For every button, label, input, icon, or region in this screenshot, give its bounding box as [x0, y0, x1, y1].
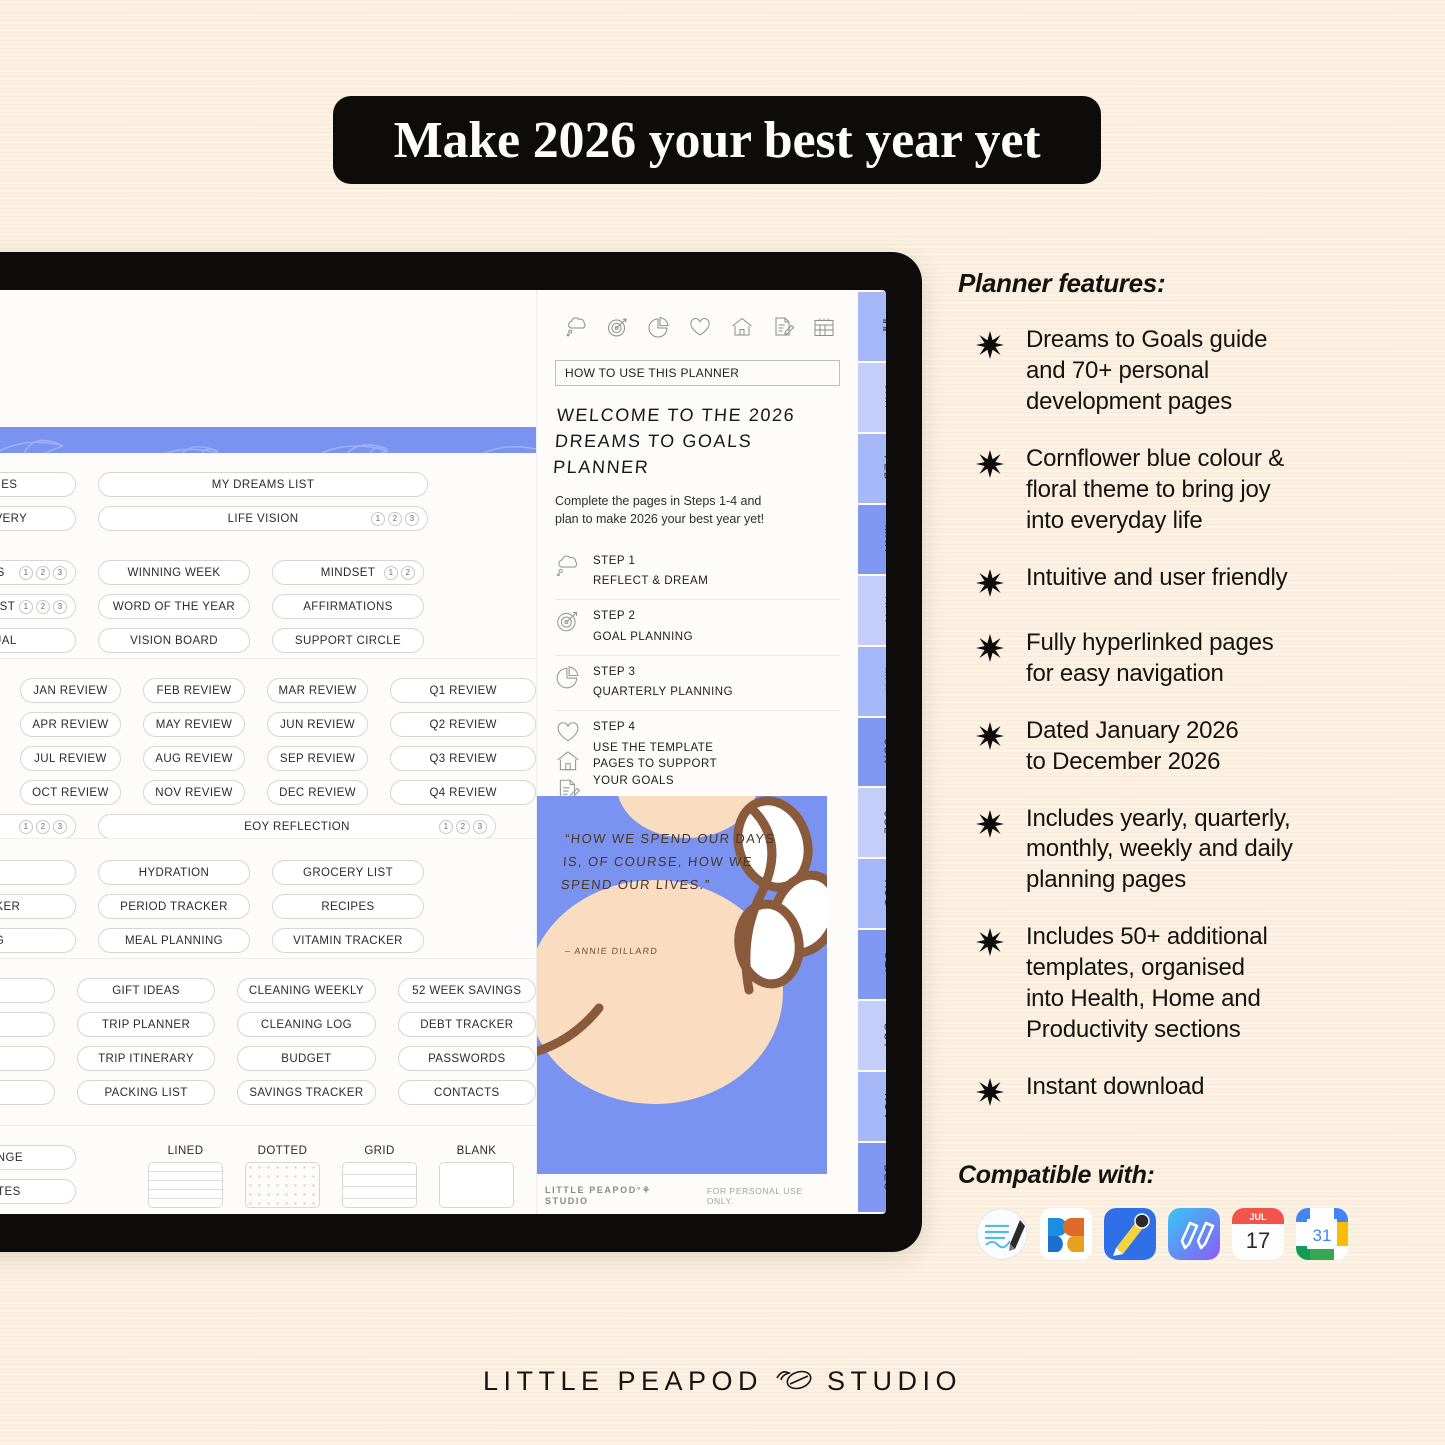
how-to-header-text: HOW TO USE THIS PLANNER: [565, 366, 739, 380]
month-tab-label: FEB: [882, 456, 886, 481]
feature-item-8: Instant download: [958, 1072, 1428, 1111]
pie-chart-icon: [555, 664, 581, 694]
index-link-mar-review[interactable]: MAR REVIEW: [267, 678, 369, 703]
month-tab-jul[interactable]: JUL: [858, 788, 886, 857]
index-link-blank[interactable]: [0, 1046, 55, 1071]
month-tab-dec[interactable]: DEC: [858, 1143, 886, 1212]
index-link-label: FITNESS LOG: [0, 935, 4, 947]
steps-list: STEP 1REFLECT & DREAMSTEP 2GOAL PLANNING…: [555, 545, 840, 816]
index-link-sep-review[interactable]: SEP REVIEW: [267, 746, 369, 771]
index-link-savings-tracker[interactable]: SAVINGS TRACKER: [237, 1080, 375, 1105]
month-tab-apr[interactable]: APR: [858, 576, 886, 645]
step-subtitle: REFLECT & DREAM: [593, 573, 708, 590]
month-tab-label: JUL: [882, 811, 886, 834]
section-divider: [0, 1125, 536, 1126]
page-number-badges: 123: [371, 512, 419, 526]
feature-item-text: Dreams to Goals guide and 70+ personal d…: [1026, 325, 1267, 418]
index-link-label: SAVINGS TRACKER: [249, 1087, 363, 1099]
index-link-label: SEP REVIEW: [280, 753, 355, 765]
index-link-label: MAR REVIEW: [279, 685, 357, 697]
index-link-label: EOY REFLECTION: [244, 821, 350, 833]
index-link-label: FEB REVIEW: [157, 685, 232, 697]
page-number-badge[interactable]: 2: [36, 600, 50, 614]
home-icon: [730, 316, 754, 338]
index-link-label: DREAMS DISCOVERY: [0, 513, 27, 525]
index-link-morning-ritual[interactable]: MORNING RITUAL: [0, 628, 76, 653]
svg-text:17: 17: [1246, 1228, 1270, 1253]
index-link-challenges[interactable]: CHALLENGES123: [0, 560, 76, 585]
index-link-cleaning-weekly[interactable]: CLEANING WEEKLY: [237, 978, 375, 1003]
index-link-label: SUPPORT CIRCLE: [295, 635, 401, 647]
feature-item-1: Dreams to Goals guide and 70+ personal d…: [958, 325, 1428, 418]
month-tab-aug[interactable]: AUG: [858, 859, 886, 928]
quote-illustration-card: “HOW WE SPEND OUR DAYS IS, OF COURSE, HO…: [537, 796, 827, 1174]
heart-icon: [555, 719, 581, 807]
index-link-label: Q4 REVIEW: [429, 787, 497, 799]
index-link-ows[interactable]: OWS: [0, 978, 55, 1003]
index-link-label: CLEANING WEEKLY: [249, 985, 364, 997]
index-link-s[interactable]: S: [0, 1080, 55, 1105]
month-tab-label: ‖‖: [880, 319, 886, 335]
planner-footer-note: FOR PERSONAL USE ONLY.: [707, 1186, 827, 1206]
page-number-badge[interactable]: 1: [439, 820, 453, 834]
index-link-label: HYDRATION: [139, 867, 209, 879]
index-link-q1-review[interactable]: Q1 REVIEW: [390, 678, 536, 703]
page-number-badge[interactable]: 1: [371, 512, 385, 526]
paper-type-label: BLANK: [439, 1145, 514, 1157]
step-title: STEP 4: [593, 719, 717, 737]
target-icon: [606, 316, 630, 338]
index-row: SPACKING LISTSAVINGS TRACKERCONTACTS: [0, 1080, 536, 1105]
index-link-aug-review[interactable]: AUG REVIEW: [143, 746, 245, 771]
index-link-grocery-list[interactable]: GROCERY LIST: [272, 860, 424, 885]
step-title: STEP 2: [593, 608, 693, 626]
step-subtitle: GOAL PLANNING: [593, 629, 693, 646]
feature-item-4: Fully hyperlinked pages for easy navigat…: [958, 628, 1428, 690]
feature-item-text: Fully hyperlinked pages for easy navigat…: [1026, 628, 1274, 690]
target-icon: [555, 608, 581, 638]
index-row: ESAPR REVIEWMAY REVIEWJUN REVIEWQ2 REVIE…: [0, 712, 536, 737]
page-number-badges: 12: [384, 566, 415, 580]
index-link-gift-ideas[interactable]: GIFT IDEAS: [77, 978, 215, 1003]
index-link-52-week-savings[interactable]: 52 WEEK SAVINGS: [398, 978, 536, 1003]
feature-item-text: Includes 50+ additional templates, organ…: [1026, 922, 1268, 1046]
index-link-hydration[interactable]: HYDRATION: [98, 860, 250, 885]
month-tab-label: AUG: [882, 880, 886, 908]
star-bullet-icon: [976, 1072, 1006, 1111]
index-link-period-tracker[interactable]: PERIOD TRACKER: [98, 894, 250, 919]
paper-type-preview: [439, 1162, 514, 1208]
step-subtitle: USE THE TEMPLATE PAGES TO SUPPORT YOUR G…: [593, 740, 717, 790]
paper-type-grid[interactable]: GRID: [342, 1145, 417, 1208]
index-link-label: Q3 REVIEW: [429, 753, 497, 765]
index-link-label: OCT REVIEW: [32, 787, 109, 799]
month-tab-label: NOV: [882, 1093, 886, 1121]
index-link-oct-review[interactable]: OCT REVIEW: [20, 780, 122, 805]
page-number-badge[interactable]: 2: [388, 512, 402, 526]
heart-icon: [688, 316, 712, 338]
index-link-gratitude[interactable]: GRATITUDE: [0, 860, 76, 885]
month-tab-label: DEC: [882, 1164, 886, 1191]
index-link-support-circle[interactable]: SUPPORT CIRCLE: [272, 628, 424, 653]
star-bullet-icon: [976, 563, 1006, 602]
star-bullet-icon: [976, 628, 1006, 690]
index-link-fitness-log[interactable]: FITNESS LOG: [0, 928, 76, 953]
index-link-label: VITAMIN TRACKER: [293, 935, 403, 947]
star-bullet-icon: [976, 716, 1006, 778]
index-link-cleaning-log[interactable]: CLEANING LOG: [237, 1012, 375, 1037]
month-tab-label: MAY: [882, 668, 886, 695]
paper-type-lined[interactable]: LINED: [148, 1145, 223, 1208]
calendar-icon: [812, 316, 836, 338]
quote-author: – ANNIE DILLARD: [565, 946, 659, 956]
index-link-label: APR REVIEW: [32, 719, 108, 731]
google-calendar-icon: 31: [1296, 1208, 1348, 1260]
thought-cloud-icon: [565, 316, 589, 338]
page-number-badge[interactable]: 2: [36, 566, 50, 580]
index-link-label: 52 WEEK SAVINGS: [412, 985, 521, 997]
paper-type-label: DOTTED: [245, 1145, 320, 1157]
index-link-label: MINDSET: [321, 567, 376, 579]
index-section-dreams: MY CORE VALUESMY DREAMS LISTDREAMS DISCO…: [0, 472, 536, 540]
page-number-badge[interactable]: 2: [456, 820, 470, 834]
index-row: DREAMS DISCOVERYLIFE VISION123: [0, 506, 536, 531]
index-link-label: AUG REVIEW: [155, 753, 232, 765]
page-number-badge[interactable]: 3: [405, 512, 419, 526]
index-link-winning-week[interactable]: WINNING WEEK: [98, 560, 250, 585]
paper-types-row: LINEDDOTTEDGRIDBLANK: [148, 1145, 548, 1208]
step-title: STEP 1: [593, 553, 708, 571]
notability-icon: [1104, 1208, 1156, 1260]
index-link-label: PACKING LIST: [104, 1087, 187, 1099]
index-link-s[interactable]: S: [0, 1012, 55, 1037]
paper-type-preview: [148, 1162, 223, 1208]
paper-type-preview: [245, 1162, 320, 1208]
index-link-debt-tracker[interactable]: DEBT TRACKER: [398, 1012, 536, 1037]
index-link-label: DEC REVIEW: [279, 787, 356, 799]
paper-type-preview: [342, 1162, 417, 1208]
planner-footer-brand: LITTLE PEAPOD°⚘ STUDIO: [545, 1185, 693, 1206]
index-link-meeting-minutes[interactable]: MEETING MINUTES: [0, 1179, 76, 1204]
month-tab-label: JAN: [882, 385, 886, 410]
index-link-label: RECIPES: [321, 901, 374, 913]
index-link-label: KEY ACTION LIST: [0, 601, 15, 613]
index-row: ESOCT REVIEWNOV REVIEWDEC REVIEWQ4 REVIE…: [0, 780, 536, 805]
paper-type-label: GRID: [342, 1145, 417, 1157]
how-to-use-page: HOW TO USE THIS PLANNER WELCOME TO THE 2…: [536, 290, 858, 1214]
month-tab-label: JUN: [882, 739, 886, 764]
index-link-my-core-values[interactable]: MY CORE VALUES: [0, 472, 76, 497]
compatible-apps-row: JUL17 31: [958, 1208, 1428, 1260]
page-number-badges: 123: [19, 600, 67, 614]
index-link-30-day-challenge[interactable]: 30 DAY CHALLENGE: [0, 1145, 76, 1170]
index-section-health: GRATITUDEHYDRATIONGROCERY LISTFITNESS TR…: [0, 860, 536, 962]
feature-item-text: Dated January 2026 to December 2026: [1026, 716, 1239, 778]
index-section-home: OWSGIFT IDEASCLEANING WEEKLY52 WEEK SAVI…: [0, 978, 536, 1114]
peapod-logo-icon: [773, 1364, 817, 1399]
svg-text:31: 31: [1313, 1226, 1332, 1245]
feature-item-text: Intuitive and user friendly: [1026, 563, 1287, 602]
page-number-badge[interactable]: 3: [53, 566, 67, 580]
star-bullet-icon: [976, 922, 1006, 1046]
index-row: GRATITUDEHYDRATIONGROCERY LIST: [0, 860, 536, 885]
noteful-icon: [1168, 1208, 1220, 1260]
brand-text-right: STUDIO: [827, 1366, 962, 1397]
index-link-label: MY CORE VALUES: [0, 479, 17, 491]
feature-item-5: Dated January 2026 to December 2026: [958, 716, 1428, 778]
index-link-eoy-reflection[interactable]: EOY REFLECTION123: [98, 814, 496, 839]
index-link-label: JAN REVIEW: [33, 685, 107, 697]
index-link-budget[interactable]: BUDGET: [237, 1046, 375, 1071]
page-number-badge[interactable]: 3: [53, 600, 67, 614]
page-number-badge[interactable]: 3: [53, 820, 67, 834]
index-row: OWSGIFT IDEASCLEANING WEEKLY52 WEEK SAVI…: [0, 978, 536, 1003]
svg-text:JUL: JUL: [1249, 1212, 1267, 1222]
month-tab-sep[interactable]: SEP: [858, 930, 886, 999]
xodo-icon: [1040, 1208, 1092, 1260]
page-number-badge[interactable]: 1: [384, 566, 398, 580]
index-link-meal-planning[interactable]: MEAL PLANNING: [98, 928, 250, 953]
index-link-life-vision[interactable]: LIFE VISION123: [98, 506, 428, 531]
floral-header-band: [0, 427, 536, 453]
headline-banner: Make 2026 your best year yet: [333, 96, 1101, 184]
index-link-may-review[interactable]: MAY REVIEW: [143, 712, 245, 737]
page-number-badge[interactable]: 1: [19, 820, 33, 834]
month-tab-mar[interactable]: MAR: [858, 505, 886, 574]
month-tab-label: SEP: [882, 952, 886, 978]
feature-item-text: Cornflower blue colour & floral theme to…: [1026, 444, 1284, 537]
index-link-label: WINNING WEEK: [128, 567, 221, 579]
step-row-3[interactable]: STEP 3QUARTERLY PLANNING: [555, 656, 840, 711]
brand-text-left: LITTLE PEAPOD: [483, 1366, 763, 1397]
index-link-label: AFFIRMATIONS: [303, 601, 393, 613]
month-tabs[interactable]: ‖‖JANFEBMARAPRMAYJUNJULAUGSEPOCTNOVDEC: [858, 290, 886, 1214]
index-link-mindset[interactable]: MINDSET12: [272, 560, 424, 585]
paper-type-blank[interactable]: BLANK: [439, 1145, 514, 1208]
index-link-label: MY DREAMS LIST: [212, 479, 315, 491]
planner-page-footer: LITTLE PEAPOD°⚘ STUDIO FOR PERSONAL USE …: [537, 1185, 827, 1206]
index-link-affirmations[interactable]: AFFIRMATIONS: [272, 594, 424, 619]
index-link-label: JUL REVIEW: [34, 753, 107, 765]
index-link-label: BUDGET: [281, 1053, 331, 1065]
goodnotes-icon: [976, 1208, 1028, 1260]
quote-text: “HOW WE SPEND OUR DAYS IS, OF COURSE, HO…: [560, 828, 788, 896]
index-link-nov-review[interactable]: NOV REVIEW: [143, 780, 245, 805]
index-link-label: MAY REVIEW: [156, 719, 232, 731]
index-link-label: CHALLENGES: [0, 567, 5, 579]
page-icon-row: [555, 316, 840, 338]
index-link-label: 30 DAY CHALLENGE: [0, 1152, 23, 1164]
star-bullet-icon: [976, 444, 1006, 537]
feature-item-7: Includes 50+ additional templates, organ…: [958, 922, 1428, 1046]
star-bullet-icon: [976, 325, 1006, 418]
index-row: FITNESS TRACKERPERIOD TRACKERRECIPES: [0, 894, 536, 919]
step-row-2[interactable]: STEP 2GOAL PLANNING: [555, 600, 840, 655]
intro-line-2: plan to make 2026 your best year yet!: [555, 510, 840, 528]
index-link-label: GROCERY LIST: [303, 867, 393, 879]
index-link-label: TRIP PLANNER: [102, 1019, 190, 1031]
index-link-q2-review[interactable]: Q2 REVIEW: [390, 712, 536, 737]
month-tab-feb[interactable]: FEB: [858, 434, 886, 503]
index-link-label: NOV REVIEW: [155, 787, 232, 799]
month-tab-may[interactable]: MAY: [858, 647, 886, 716]
apple-calendar-icon: JUL17: [1232, 1208, 1284, 1260]
index-row: MORNING RITUALVISION BOARDSUPPORT CIRCLE: [0, 628, 536, 653]
index-link-q4-review[interactable]: Q4 REVIEW: [390, 780, 536, 805]
features-title: Planner features:: [958, 268, 1428, 299]
pie-chart-icon: [647, 316, 671, 338]
index-section-reviews: ESJAN REVIEWFEB REVIEWMAR REVIEWQ1 REVIE…: [0, 678, 536, 848]
index-link-label: LIFE VISION: [228, 513, 299, 525]
month-tab-jan[interactable]: JAN: [858, 363, 886, 432]
index-link-my-dreams-list[interactable]: MY DREAMS LIST: [98, 472, 428, 497]
index-link-label: PERIOD TRACKER: [120, 901, 228, 913]
index-link-label: VISION BOARD: [130, 635, 218, 647]
index-link-label: CONTACTS: [434, 1087, 500, 1099]
month-tab-label: APR: [882, 597, 886, 624]
month-tab-nov[interactable]: NOV: [858, 1072, 886, 1141]
index-link-label: FITNESS TRACKER: [0, 901, 20, 913]
brand-footer: LITTLE PEAPOD STUDIO: [0, 1364, 1445, 1399]
index-row: ESJUL REVIEWAUG REVIEWSEP REVIEWQ3 REVIE…: [0, 746, 536, 771]
section-divider: [0, 958, 536, 959]
index-row: STRIP PLANNERCLEANING LOGDEBT TRACKER: [0, 1012, 536, 1037]
star-bullet-icon: [976, 804, 1006, 897]
index-link-label: MEETING MINUTES: [0, 1186, 21, 1198]
page-number-badges: 123: [19, 820, 67, 834]
tablet-device: MY CORE VALUESMY DREAMS LISTDREAMS DISCO…: [0, 252, 922, 1252]
index-section-goals: CHALLENGES123WINNING WEEKMINDSET12KEY AC…: [0, 560, 536, 662]
index-link-apr-review[interactable]: APR REVIEW: [20, 712, 122, 737]
welcome-line-1: WELCOME TO THE 2026: [556, 402, 843, 428]
page-number-badges: 123: [439, 820, 487, 834]
compatible-title: Compatible with:: [958, 1161, 1428, 1190]
index-link-label: Q2 REVIEW: [429, 719, 497, 731]
feature-item-text: Instant download: [1026, 1072, 1204, 1111]
index-link-label: GIFT IDEAS: [112, 985, 180, 997]
index-row: ESJAN REVIEWFEB REVIEWMAR REVIEWQ1 REVIE…: [0, 678, 536, 703]
index-row: 123EOY REFLECTION123: [0, 814, 536, 839]
welcome-line-2: DREAMS TO GOALS PLANNER: [552, 428, 841, 480]
index-link-jun-review[interactable]: JUN REVIEW: [267, 712, 369, 737]
index-link-q3-review[interactable]: Q3 REVIEW: [390, 746, 536, 771]
index-link-label: MORNING RITUAL: [0, 635, 17, 647]
index-link-word-of-the-year[interactable]: WORD OF THE YEAR: [98, 594, 250, 619]
headline-text: Make 2026 your best year yet: [394, 111, 1041, 170]
index-link-packing-list[interactable]: PACKING LIST: [77, 1080, 215, 1105]
paper-type-dotted[interactable]: DOTTED: [245, 1145, 320, 1208]
month-tab-label: MAR: [882, 525, 886, 553]
index-row: FITNESS LOGMEAL PLANNINGVITAMIN TRACKER: [0, 928, 536, 953]
index-link-label: DEBT TRACKER: [420, 1019, 513, 1031]
features-panel: Planner features: Dreams to Goals guide …: [958, 268, 1428, 1260]
index-row: KEY ACTION LIST123WORD OF THE YEARAFFIRM…: [0, 594, 536, 619]
feature-item-6: Includes yearly, quarterly, monthly, wee…: [958, 804, 1428, 897]
index-link-fitness-tracker[interactable]: FITNESS TRACKER: [0, 894, 76, 919]
index-link-jan-review[interactable]: JAN REVIEW: [20, 678, 122, 703]
month-tab-jun[interactable]: JUN: [858, 718, 886, 787]
index-link-label: CLEANING LOG: [261, 1019, 352, 1031]
step-row-1[interactable]: STEP 1REFLECT & DREAM: [555, 545, 840, 600]
index-link-jul-review[interactable]: JUL REVIEW: [20, 746, 122, 771]
index-link-contacts[interactable]: CONTACTS: [398, 1080, 536, 1105]
index-link-blank[interactable]: 123: [0, 814, 76, 839]
index-link-trip-itinerary[interactable]: TRIP ITINERARY: [77, 1046, 215, 1071]
index-link-dreams-discovery[interactable]: DREAMS DISCOVERY: [0, 506, 76, 531]
index-row: MY CORE VALUESMY DREAMS LIST: [0, 472, 536, 497]
section-divider: [0, 838, 536, 839]
feature-item-2: Cornflower blue colour & floral theme to…: [958, 444, 1428, 537]
section-divider: [0, 658, 536, 659]
page-number-badge[interactable]: 1: [19, 600, 33, 614]
page-number-badge[interactable]: 3: [473, 820, 487, 834]
feature-item-text: Includes yearly, quarterly, monthly, wee…: [1026, 804, 1293, 897]
index-link-label: MEAL PLANNING: [125, 935, 223, 947]
index-link-passwords[interactable]: PASSWORDS: [398, 1046, 536, 1071]
index-link-label: WORD OF THE YEAR: [113, 601, 235, 613]
how-to-header-box: HOW TO USE THIS PLANNER: [555, 360, 840, 386]
month-tab-label: OCT: [882, 1022, 886, 1049]
feature-item-3: Intuitive and user friendly: [958, 563, 1428, 602]
index-link-label: Q1 REVIEW: [429, 685, 497, 697]
index-link-label: TRIP ITINERARY: [98, 1053, 194, 1065]
planner-page: MY CORE VALUESMY DREAMS LISTDREAMS DISCO…: [0, 290, 886, 1214]
month-tab-oct[interactable]: OCT: [858, 1001, 886, 1070]
step-subtitle: QUARTERLY PLANNING: [593, 684, 733, 701]
planner-index-page: MY CORE VALUESMY DREAMS LISTDREAMS DISCO…: [0, 290, 536, 1214]
thought-cloud-icon: [555, 553, 581, 583]
index-row: CHALLENGES123WINNING WEEKMINDSET12: [0, 560, 536, 585]
paper-type-label: LINED: [148, 1145, 223, 1157]
index-link-label: JUN REVIEW: [280, 719, 355, 731]
month-tab-menu[interactable]: ‖‖: [858, 292, 886, 361]
step-title: STEP 3: [593, 664, 733, 682]
page-number-badge[interactable]: 1: [19, 566, 33, 580]
index-link-feb-review[interactable]: FEB REVIEW: [143, 678, 245, 703]
tablet-screen: MY CORE VALUESMY DREAMS LISTDREAMS DISCO…: [0, 290, 886, 1214]
index-link-vision-board[interactable]: VISION BOARD: [98, 628, 250, 653]
note-pencil-icon: [771, 316, 795, 338]
features-list: Dreams to Goals guide and 70+ personal d…: [958, 325, 1428, 1111]
index-row: TRIP ITINERARYBUDGETPASSWORDS: [0, 1046, 536, 1071]
page-number-badge[interactable]: 2: [401, 566, 415, 580]
intro-line-1: Complete the pages in Steps 1-4 and: [555, 492, 840, 510]
index-link-label: PASSWORDS: [428, 1053, 506, 1065]
intro-text: Complete the pages in Steps 1-4 and plan…: [555, 492, 840, 528]
welcome-heading: WELCOME TO THE 2026 DREAMS TO GOALS PLAN…: [552, 402, 842, 480]
index-link-key-action-list[interactable]: KEY ACTION LIST123: [0, 594, 76, 619]
index-link-dec-review[interactable]: DEC REVIEW: [267, 780, 369, 805]
index-link-recipes[interactable]: RECIPES: [272, 894, 424, 919]
page-number-badge[interactable]: 2: [36, 820, 50, 834]
page-number-badges: 123: [19, 566, 67, 580]
index-link-vitamin-tracker[interactable]: VITAMIN TRACKER: [272, 928, 424, 953]
index-link-trip-planner[interactable]: TRIP PLANNER: [77, 1012, 215, 1037]
